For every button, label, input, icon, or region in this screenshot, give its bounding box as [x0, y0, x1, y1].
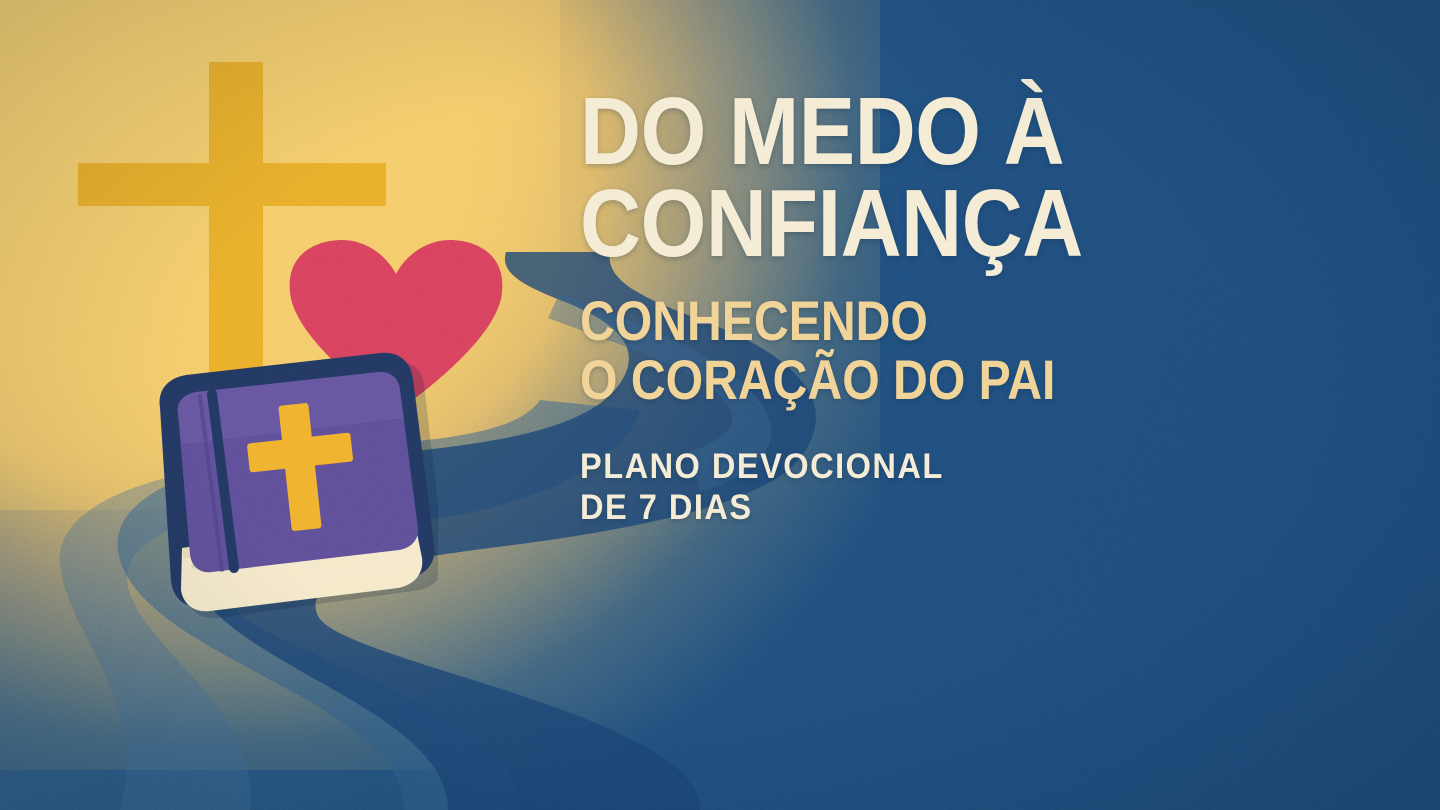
cross-horizontal-bar	[78, 163, 386, 206]
cross-vertical-bar	[209, 62, 263, 397]
page-title: DO MEDO À CONFIANÇA	[580, 86, 1196, 270]
bible-book-icon	[138, 352, 438, 620]
poster-subtitle: CONHECENDO O CORAÇÃO DO PAI	[580, 292, 1182, 410]
poster-copy: DO MEDO À CONFIANÇA CONHECENDO O CORAÇÃO…	[580, 86, 1280, 529]
devotional-plan-poster: DO MEDO À CONFIANÇA CONHECENDO O CORAÇÃO…	[0, 0, 1440, 810]
poster-kicker: PLANO DEVOCIONAL DE 7 DIAS	[580, 446, 1231, 529]
